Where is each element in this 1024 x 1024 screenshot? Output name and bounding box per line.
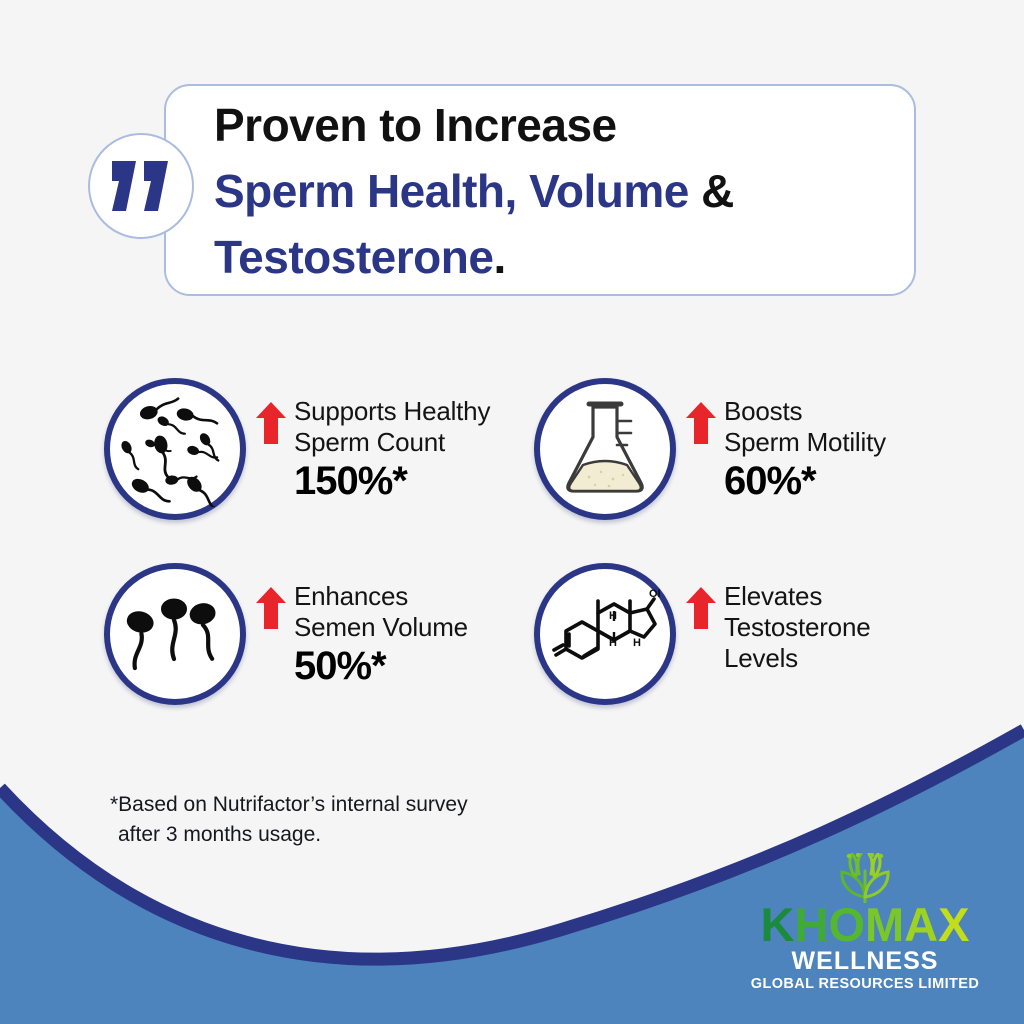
- feature-row-2: Enhances Semen Volume 50%*: [104, 563, 964, 705]
- headline-line-1: Proven to Increase: [214, 92, 924, 158]
- sperm-cells-petri-dish-icon: [104, 378, 246, 520]
- infographic-canvas: Proven to Increase Sperm Health, Volume …: [0, 0, 1024, 1024]
- brand-legal-name: GLOBAL RESOURCES LIMITED: [745, 975, 985, 993]
- feature-value: 60%*: [724, 459, 886, 503]
- brand-letter-5: A: [904, 898, 938, 951]
- testosterone-molecule-icon: OH H H H: [534, 563, 676, 705]
- feature-label-line2: Semen Volume: [294, 612, 468, 643]
- footnote-line-2: after 3 months usage.: [110, 820, 630, 850]
- up-arrow-icon: [256, 587, 286, 629]
- headline-line-2: Sperm Health, Volume &: [214, 158, 924, 224]
- brand-letter-2: H: [794, 898, 828, 951]
- feature-value: 50%*: [294, 644, 468, 688]
- feature-label-line1: Supports Healthy: [294, 396, 490, 427]
- up-arrow-icon: [686, 402, 716, 444]
- headline-line-3: Testosterone.: [214, 224, 924, 290]
- brand-name: KHOMAX: [745, 901, 985, 949]
- feature-label-line1: Elevates: [724, 581, 870, 612]
- three-sperm-cells-icon: [104, 563, 246, 705]
- feature-label-line2: Sperm Motility: [724, 427, 886, 458]
- footnote: *Based on Nutrifactor’s internal survey …: [110, 790, 630, 850]
- feature-label-line1: Enhances: [294, 581, 468, 612]
- feature-value: Levels: [724, 643, 870, 674]
- up-arrow-icon: [256, 402, 286, 444]
- brand-letter-1: K: [761, 898, 795, 951]
- feature-label-line2: Sperm Count: [294, 427, 490, 458]
- quote-badge: [88, 133, 194, 239]
- up-arrow-icon: [686, 587, 716, 629]
- brand-letter-6: X: [938, 898, 969, 951]
- footnote-line-1: *Based on Nutrifactor’s internal survey: [110, 793, 468, 816]
- feature-grid: Supports Healthy Sperm Count 150%*: [104, 378, 964, 705]
- leaf-sprout-icon: [745, 855, 985, 903]
- feature-item-sperm-count: Supports Healthy Sperm Count 150%*: [104, 378, 534, 520]
- feature-item-testosterone: OH H H H: [534, 563, 964, 705]
- brand-logo: KHOMAX WELLNESS GLOBAL RESOURCES LIMITED: [745, 855, 985, 993]
- page-title: Proven to Increase Sperm Health, Volume …: [214, 92, 924, 290]
- conical-flask-icon: [534, 378, 676, 520]
- feature-label-line2: Testosterone: [724, 612, 870, 643]
- brand-letter-3: O: [828, 898, 865, 951]
- feature-item-sperm-motility: Boosts Sperm Motility 60%*: [534, 378, 964, 520]
- feature-label-line1: Boosts: [724, 396, 886, 427]
- svg-text:H: H: [633, 637, 641, 649]
- brand-letter-4: M: [865, 898, 904, 951]
- feature-row-1: Supports Healthy Sperm Count 150%*: [104, 378, 964, 520]
- feature-item-semen-volume: Enhances Semen Volume 50%*: [104, 563, 534, 705]
- brand-tagline: WELLNESS: [745, 947, 985, 975]
- quotation-mark-icon: [110, 161, 172, 211]
- svg-text:OH: OH: [649, 588, 660, 600]
- feature-value: 150%*: [294, 459, 490, 503]
